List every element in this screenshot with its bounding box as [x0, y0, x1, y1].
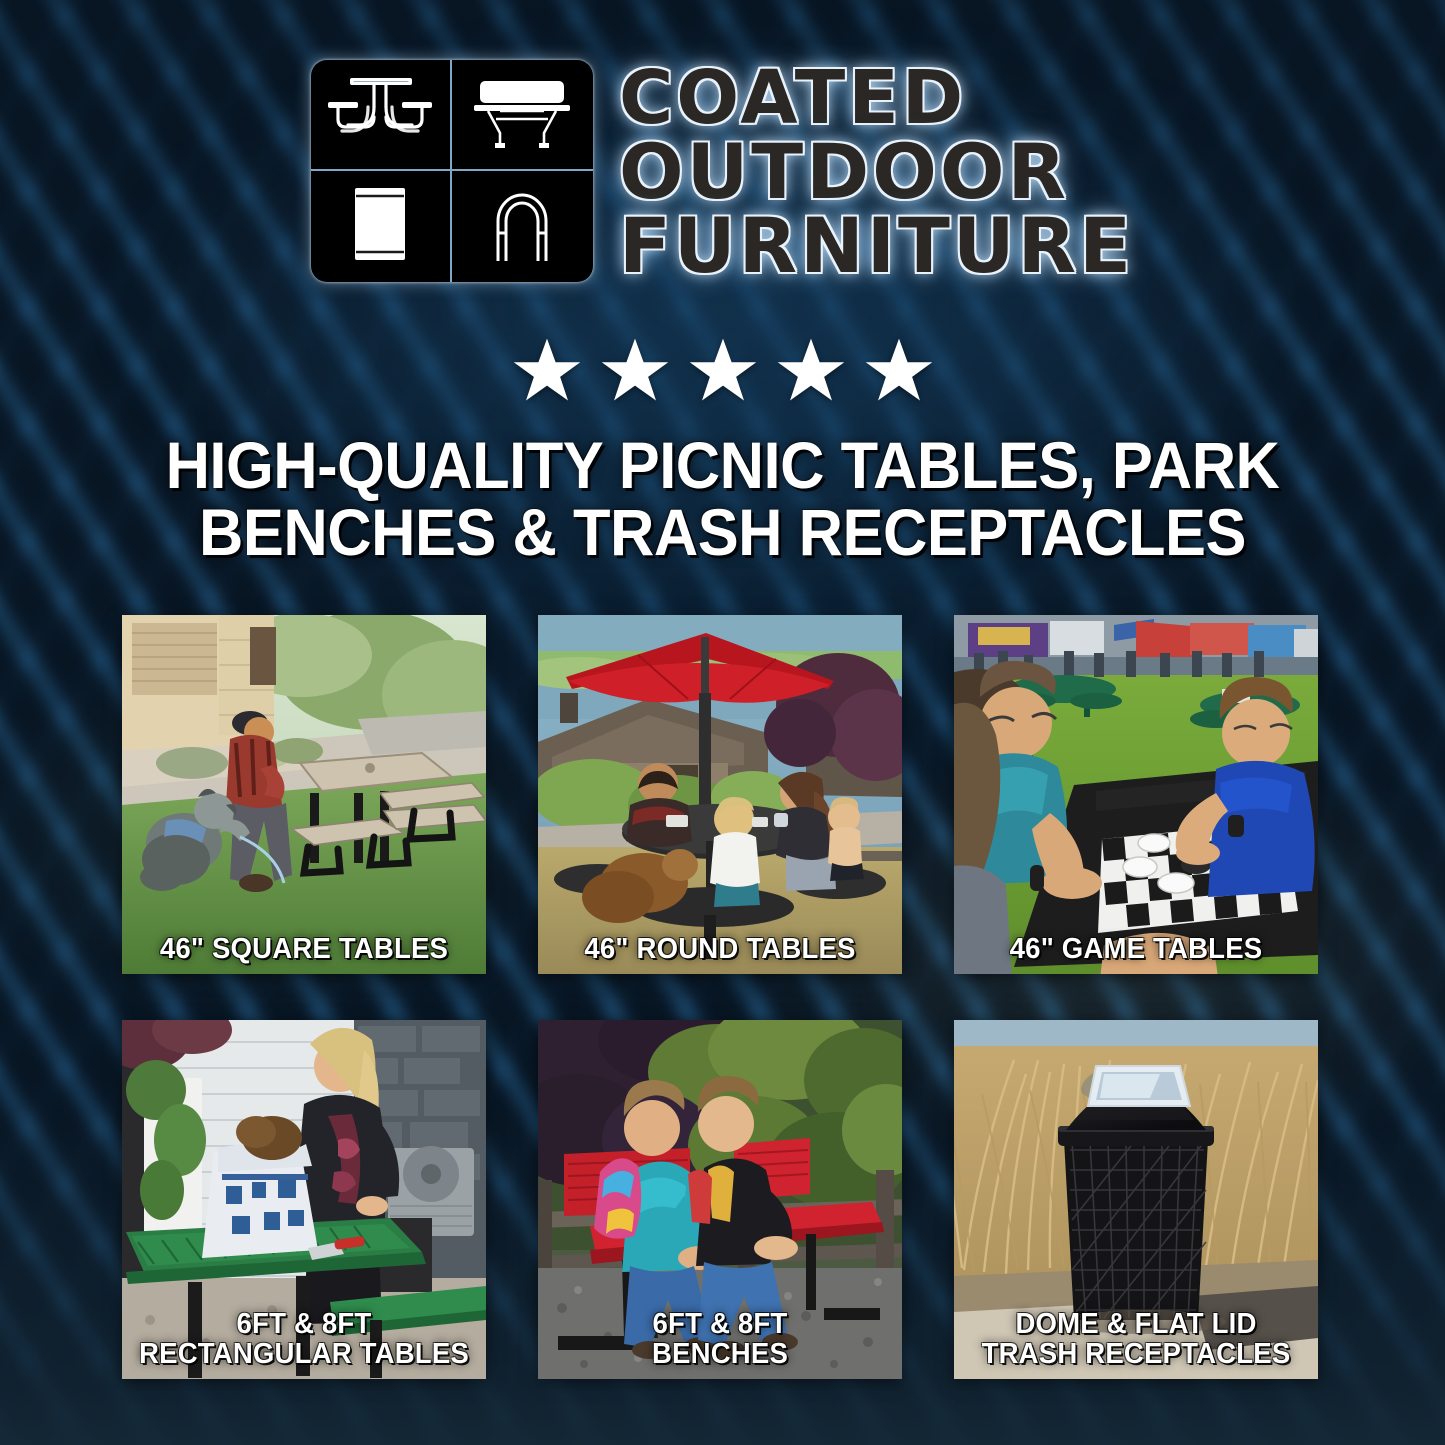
headline-line-2: BENCHES & TRASH RECEPTACLES	[116, 499, 1330, 566]
product-photo-game-tables	[954, 615, 1318, 974]
star-icon	[863, 336, 935, 406]
product-photo-round-tables	[538, 615, 902, 974]
picnic-table-front-icon	[311, 60, 452, 171]
headline-line-1: HIGH-QUALITY PICNIC TABLES, PARK	[116, 432, 1330, 499]
brand-line-2: OUTDOOR	[619, 135, 1069, 209]
arch-bike-rack-icon	[452, 171, 593, 282]
star-icon	[511, 336, 583, 406]
caption-line: 6FT & 8FT	[137, 1309, 471, 1339]
poster-canvas: COATED OUTDOOR FURNITURE HIGH-QUALITY PI…	[0, 0, 1445, 1445]
brand-logo-mark[interactable]	[311, 60, 593, 282]
brand-line-1: COATED	[619, 62, 966, 135]
star-icon	[687, 336, 759, 406]
product-tile-rectangular-tables[interactable]: 6FT & 8FT RECTANGULAR TABLES	[122, 1020, 486, 1379]
brand-header: COATED OUTDOOR FURNITURE	[0, 58, 1445, 283]
brand-wordmark: COATED OUTDOOR FURNITURE	[619, 62, 1134, 283]
caption-line: 46" ROUND TABLES	[553, 934, 887, 964]
product-caption-game-tables: 46" GAME TABLES	[969, 934, 1303, 964]
product-caption-trash-receptacles: DOME & FLAT LID TRASH RECEPTACLES	[969, 1309, 1303, 1369]
caption-line: 46" SQUARE TABLES	[137, 934, 471, 964]
product-caption-benches: 6FT & 8FT BENCHES	[553, 1309, 887, 1369]
caption-line: DOME & FLAT LID	[969, 1309, 1303, 1339]
caption-line: 6FT & 8FT	[553, 1309, 887, 1339]
brand-line-3: FURNITURE	[619, 209, 1134, 283]
product-tile-round-tables[interactable]: 46" ROUND TABLES	[538, 615, 902, 974]
product-tile-benches[interactable]: 6FT & 8FT BENCHES	[538, 1020, 902, 1379]
product-tile-game-tables[interactable]: 46" GAME TABLES	[954, 615, 1318, 974]
product-caption-round-tables: 46" ROUND TABLES	[553, 934, 887, 964]
product-grid: 46" SQUARE TABLES	[122, 615, 1323, 1379]
star-icon	[599, 336, 671, 406]
product-tile-square-tables[interactable]: 46" SQUARE TABLES	[122, 615, 486, 974]
trash-receptacle-icon	[311, 171, 452, 282]
caption-line: RECTANGULAR TABLES	[137, 1339, 471, 1369]
product-tile-trash-receptacles[interactable]: DOME & FLAT LID TRASH RECEPTACLES	[954, 1020, 1318, 1379]
star-rating	[0, 336, 1445, 406]
caption-line: TRASH RECEPTACLES	[969, 1339, 1303, 1369]
product-caption-rectangular-tables: 6FT & 8FT RECTANGULAR TABLES	[137, 1309, 471, 1369]
caption-line: BENCHES	[553, 1339, 887, 1369]
caption-line: 46" GAME TABLES	[969, 934, 1303, 964]
product-photo-square-tables	[122, 615, 486, 974]
bench-table-side-icon	[452, 60, 593, 171]
product-caption-square-tables: 46" SQUARE TABLES	[137, 934, 471, 964]
page-headline: HIGH-QUALITY PICNIC TABLES, PARK BENCHES…	[116, 432, 1330, 567]
star-icon	[775, 336, 847, 406]
